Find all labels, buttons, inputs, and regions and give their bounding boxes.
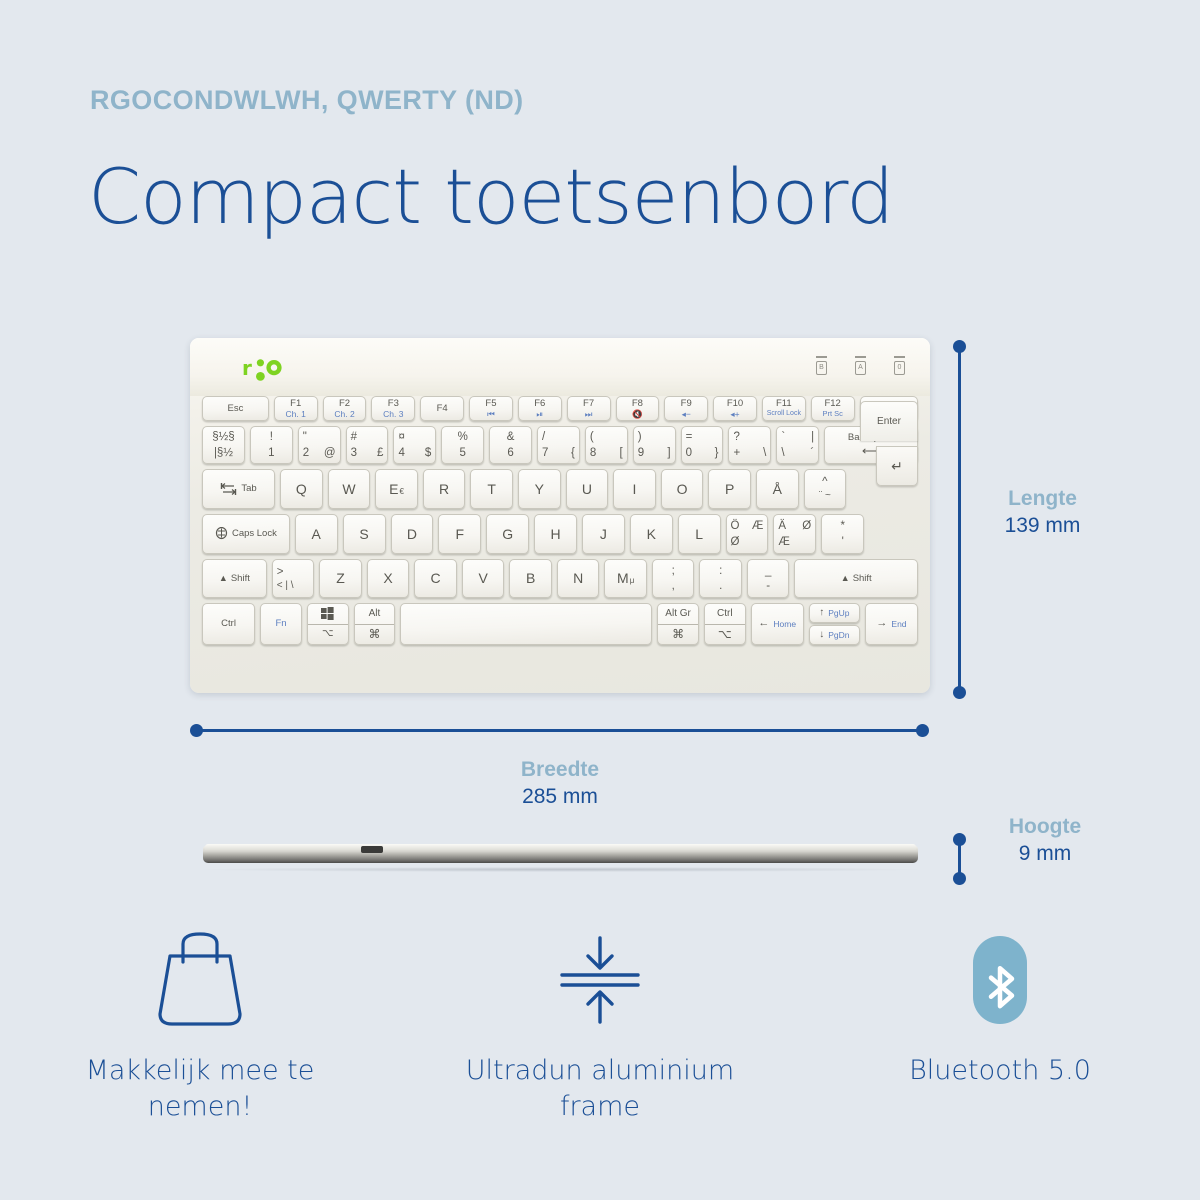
feature-row: Makkelijk mee te nemen! Ultradun alumini… xyxy=(0,925,1200,1126)
length-line xyxy=(958,346,961,694)
infographic-page: RGOCONDWLWH, QWERTY (ND) Compact toetsen… xyxy=(0,0,1200,1200)
key-g[interactable]: G xyxy=(486,514,529,554)
key-m[interactable]: M μ xyxy=(604,559,647,598)
key-e[interactable]: E € xyxy=(375,469,418,509)
key-3[interactable]: # 3£ xyxy=(346,426,389,464)
key-ae[interactable]: ÄØ Æ xyxy=(773,514,816,554)
key-f5[interactable]: F5 ⏮ xyxy=(469,396,513,421)
command-icon-right: ⌘ xyxy=(658,625,698,645)
tab-arrows-icon xyxy=(220,482,238,496)
feature-portable-text: Makkelijk mee te nemen! xyxy=(50,1053,350,1126)
windows-icon xyxy=(308,604,348,625)
key-alt-command-left[interactable]: Alt ⌘ xyxy=(354,603,396,645)
function-key-row: Esc F1 Ch. 1 F2 Ch. 2 F3 Ch. 3 F4 xyxy=(202,396,918,421)
key-t[interactable]: T xyxy=(470,469,513,509)
key-f4[interactable]: F4 xyxy=(420,396,464,421)
status-led-group: B A 0 xyxy=(815,356,906,376)
arrow-updown-stack: ↑ PgUp ↓ PgDn xyxy=(809,603,860,645)
key-5[interactable]: % 5 xyxy=(441,426,484,464)
keyboard-side-profile xyxy=(203,842,918,868)
key-plus-question[interactable]: ? +\ xyxy=(728,426,771,464)
key-esc[interactable]: Esc xyxy=(202,396,269,421)
profile-top-surface xyxy=(205,844,916,850)
key-f10[interactable]: F10 ◂+ xyxy=(713,396,757,421)
volume-up-icon: ◂+ xyxy=(730,410,739,419)
key-f3[interactable]: F3 Ch. 3 xyxy=(371,396,415,421)
option-icon: ⌥ xyxy=(308,625,348,645)
height-label: Hoogte 9 mm xyxy=(990,815,1100,866)
key-8[interactable]: ( 8[ xyxy=(585,426,628,464)
shift-up-icon: ▲ xyxy=(219,574,228,583)
key-f7[interactable]: F7 ⏭ xyxy=(567,396,611,421)
width-line xyxy=(196,729,922,732)
bluetooth-icon xyxy=(948,925,1052,1035)
feature-thin-frame-text: Ultradun aluminium frame xyxy=(450,1053,750,1126)
key-o[interactable]: O xyxy=(661,469,704,509)
command-icon: ⌘ xyxy=(355,625,395,645)
home-key-row: Caps Lock A S D F G H J K L ÖÆ Ø xyxy=(202,514,918,554)
key-f12[interactable]: F12 Prt Sc xyxy=(811,396,855,421)
key-f9[interactable]: F9 ◂− xyxy=(664,396,708,421)
length-dot-bottom xyxy=(953,686,966,699)
r-go-logo: r xyxy=(242,354,290,386)
feature-thin-frame: Ultradun aluminium frame xyxy=(400,925,800,1126)
key-s[interactable]: S xyxy=(343,514,386,554)
key-f2[interactable]: F2 Ch. 2 xyxy=(323,396,367,421)
feature-bluetooth-text: Bluetooth 5.0 xyxy=(909,1053,1091,1089)
thin-frame-icon xyxy=(548,925,652,1035)
key-9[interactable]: ) 9] xyxy=(633,426,676,464)
key-y[interactable]: Y xyxy=(518,469,561,509)
length-label: Lengte 139 mm xyxy=(985,487,1100,538)
feature-portable: Makkelijk mee te nemen! xyxy=(0,925,400,1126)
key-enter[interactable]: Enter ↵ xyxy=(860,401,918,487)
key-oe[interactable]: ÖÆ Ø xyxy=(726,514,769,554)
key-a[interactable]: A xyxy=(295,514,338,554)
key-f1[interactable]: F1 Ch. 1 xyxy=(274,396,318,421)
caps-lock-icon xyxy=(215,527,228,541)
shift-key-row: ▲ Shift > < | \ Z X C V B N xyxy=(202,559,918,598)
option-icon-right: ⌥ xyxy=(705,625,745,645)
key-alt-gr-command[interactable]: Alt Gr ⌘ xyxy=(657,603,699,645)
key-angle-brackets[interactable]: > < | \ xyxy=(272,559,315,598)
bluetooth-led-icon: B xyxy=(815,356,828,376)
key-shift-right[interactable]: ▲ Shift xyxy=(794,559,918,598)
key-shift-left[interactable]: ▲ Shift xyxy=(202,559,267,598)
key-windows-option[interactable]: ⌥ xyxy=(307,603,349,645)
enter-arrow-icon: ↵ xyxy=(891,458,903,475)
key-l[interactable]: L xyxy=(678,514,721,554)
caps-lock-led-icon: A xyxy=(854,356,867,376)
feature-bluetooth: Bluetooth 5.0 xyxy=(800,925,1200,1126)
usb-port-icon xyxy=(361,846,383,853)
key-section-half[interactable]: §½§ |§½ xyxy=(202,426,245,464)
media-prev-icon: ⏮ xyxy=(487,410,495,419)
key-n[interactable]: N xyxy=(557,559,600,598)
key-j[interactable]: J xyxy=(582,514,625,554)
key-arrow-left-home[interactable]: ← Home xyxy=(751,603,804,645)
key-c[interactable]: C xyxy=(414,559,457,598)
key-space[interactable] xyxy=(400,603,652,645)
key-q[interactable]: Q xyxy=(280,469,323,509)
width-dot-right xyxy=(916,724,929,737)
key-ctrl-left[interactable]: Ctrl xyxy=(202,603,255,645)
key-arrow-up-pgup[interactable]: ↑ PgUp xyxy=(809,603,860,623)
key-aring[interactable]: Å xyxy=(756,469,799,509)
volume-down-icon: ◂− xyxy=(682,410,691,419)
key-f11[interactable]: F11 Scroll Lock xyxy=(762,396,806,421)
key-acute-grave[interactable]: `| \´ xyxy=(776,426,819,464)
profile-shadow xyxy=(203,867,918,872)
key-1[interactable]: ! 1 xyxy=(250,426,293,464)
key-i[interactable]: I xyxy=(613,469,656,509)
key-v[interactable]: V xyxy=(462,559,505,598)
key-ctrl-option-right[interactable]: Ctrl ⌥ xyxy=(704,603,746,645)
key-p[interactable]: P xyxy=(708,469,751,509)
key-f6[interactable]: F6 ⏯ xyxy=(518,396,562,421)
modifier-key-row: Ctrl Fn ⌥ xyxy=(202,603,918,645)
key-tab[interactable]: Tab xyxy=(202,469,275,509)
key-fn[interactable]: Fn xyxy=(260,603,302,645)
key-0[interactable]: = 0} xyxy=(681,426,724,464)
svg-text:r: r xyxy=(242,356,252,380)
qwerty-key-row: Tab Q W E € R T Y U I O P Å xyxy=(202,469,918,509)
number-key-row: §½§ |§½ ! 1 " 2@ xyxy=(202,426,918,464)
key-f[interactable]: F xyxy=(438,514,481,554)
key-f8[interactable]: F8 🔇 xyxy=(616,396,660,421)
key-arrow-right-end[interactable]: → End xyxy=(865,603,918,645)
volume-mute-icon: 🔇 xyxy=(632,410,643,419)
key-semicolon-comma[interactable]: ; , xyxy=(652,559,695,598)
key-z[interactable]: Z xyxy=(319,559,362,598)
key-r[interactable]: R xyxy=(423,469,466,509)
key-h[interactable]: H xyxy=(534,514,577,554)
key-d[interactable]: D xyxy=(391,514,434,554)
key-asterisk-apostrophe[interactable]: * ' xyxy=(821,514,864,554)
key-circumflex-diaeresis[interactable]: ^ ¨ ~ xyxy=(804,469,847,509)
media-next-icon: ⏭ xyxy=(585,410,593,419)
key-enter-bottom[interactable]: ↵ xyxy=(876,446,918,486)
key-arrow-down-pgdn[interactable]: ↓ PgDn xyxy=(809,625,860,645)
key-2[interactable]: " 2@ xyxy=(298,426,341,464)
key-k[interactable]: K xyxy=(630,514,673,554)
key-enter-top[interactable]: Enter xyxy=(860,401,918,441)
keyboard-top-view: r B A 0 Esc F1 Ch. 1 F2 xyxy=(190,338,930,693)
key-matrix: Esc F1 Ch. 1 F2 Ch. 2 F3 Ch. 3 F4 xyxy=(190,396,930,650)
key-6[interactable]: & 6 xyxy=(489,426,532,464)
page-title: Compact toetsenbord xyxy=(88,152,893,241)
key-underscore-hyphen[interactable]: _ - xyxy=(747,559,790,598)
key-7[interactable]: / 7{ xyxy=(537,426,580,464)
bag-icon xyxy=(148,925,252,1035)
key-x[interactable]: X xyxy=(367,559,410,598)
media-playpause-icon: ⏯ xyxy=(536,410,543,419)
key-u[interactable]: U xyxy=(566,469,609,509)
product-code-eyebrow: RGOCONDWLWH, QWERTY (ND) xyxy=(90,85,524,116)
key-4[interactable]: ¤ 4$ xyxy=(393,426,436,464)
key-caps-lock[interactable]: Caps Lock xyxy=(202,514,290,554)
battery-led-icon: 0 xyxy=(893,356,906,376)
width-label: Breedte 285 mm xyxy=(480,758,640,809)
key-colon-period[interactable]: : . xyxy=(699,559,742,598)
shift-up-icon-right: ▲ xyxy=(841,574,850,583)
height-dot-bottom xyxy=(953,872,966,885)
key-b[interactable]: B xyxy=(509,559,552,598)
key-w[interactable]: W xyxy=(328,469,371,509)
